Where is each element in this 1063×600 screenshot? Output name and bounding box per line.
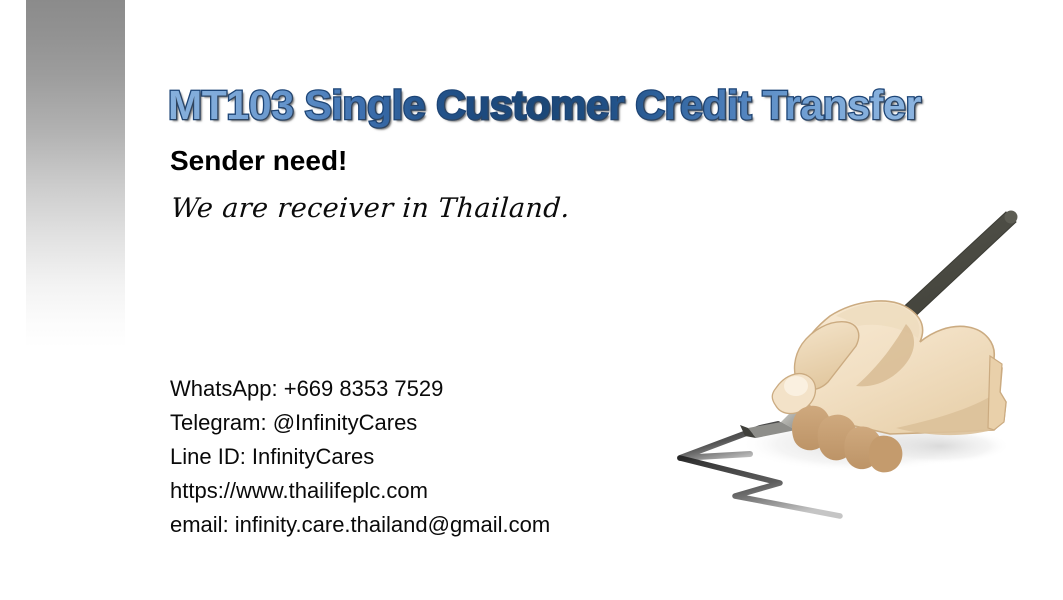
hand-writing-with-pen-icon bbox=[650, 196, 1050, 526]
contact-details-block: WhatsApp: +669 8353 7529 Telegram: @Infi… bbox=[170, 372, 690, 542]
script-subtitle-text: We are receiver in Thailand. bbox=[170, 192, 571, 226]
thumb-knuckle-highlight bbox=[784, 376, 808, 396]
page-title: MT103 Single Customer Credit Transfer MT… bbox=[168, 80, 1008, 132]
hand-wrist bbox=[988, 356, 1006, 430]
pen-cap-end bbox=[1005, 211, 1018, 224]
contact-line-lineid: Line ID: InfinityCares bbox=[170, 440, 690, 474]
slide-canvas: MT103 Single Customer Credit Transfer MT… bbox=[0, 0, 1063, 600]
page-title-fill: MT103 Single Customer Credit Transfer bbox=[168, 80, 921, 130]
headline-text: Sender need! bbox=[170, 144, 347, 178]
contact-line-email[interactable]: email: infinity.care.thailand@gmail.com bbox=[170, 508, 690, 542]
decorative-gradient-bar bbox=[26, 0, 125, 348]
contact-line-telegram: Telegram: @InfinityCares bbox=[170, 406, 690, 440]
page-title-text: MT103 Single Customer Credit Transfer bbox=[168, 80, 921, 130]
contact-line-whatsapp: WhatsApp: +669 8353 7529 bbox=[170, 372, 690, 406]
contact-line-website[interactable]: https://www.thailifeplc.com bbox=[170, 474, 690, 508]
